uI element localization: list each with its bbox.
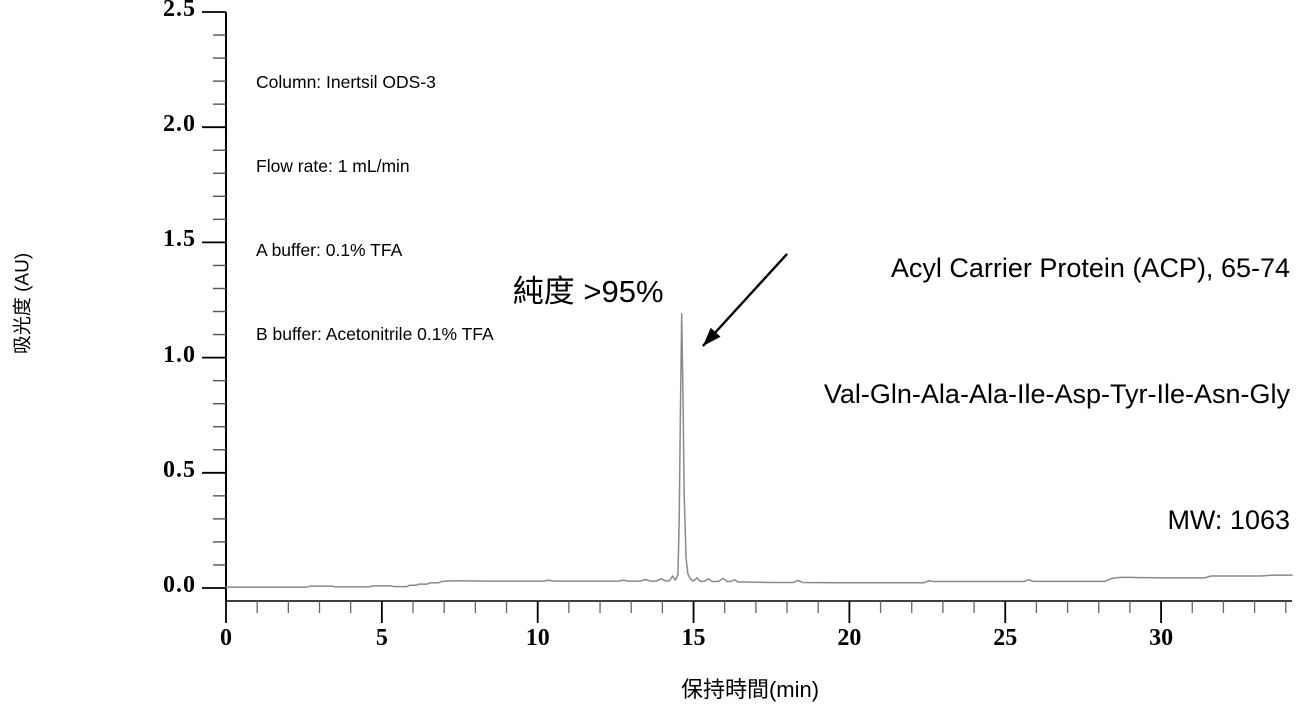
x-tick-label: 10 [508,625,568,652]
x-tick-label: 25 [975,625,1035,652]
method-line-flowrate: Flow rate: 1 mL/min [256,152,494,180]
method-line-abuffer: A buffer: 0.1% TFA [256,236,494,264]
sample-annotation: Acyl Carrier Protein (ACP), 65-74 Val-Gl… [824,163,1290,625]
y-tick-label: 1.0 [126,342,196,369]
y-tick-label: 2.5 [126,0,196,23]
method-conditions: Column: Inertsil ODS-3 Flow rate: 1 mL/m… [256,12,494,404]
x-axis-title: 保持時間(min) [610,672,890,704]
y-tick-label: 1.5 [126,226,196,253]
y-tick-label: 0.5 [126,457,196,484]
sample-mw: MW: 1063 [824,499,1290,541]
y-tick-label: 2.0 [126,111,196,138]
y-tick-label: 0.0 [126,572,196,599]
sample-name: Acyl Carrier Protein (ACP), 65-74 [824,247,1290,289]
sample-sequence: Val-Gln-Ala-Ala-Ile-Asp-Tyr-Ile-Asn-Gly [824,373,1290,415]
y-axis-title: 吸光度 (AU) [8,239,35,369]
method-line-column: Column: Inertsil ODS-3 [256,68,494,96]
peak-arrow [703,254,787,346]
method-line-bbuffer: B buffer: Acetonitrile 0.1% TFA [256,320,494,348]
x-tick-label: 20 [819,625,879,652]
purity-label: 純度 >95% [513,266,664,311]
chromatogram-figure: Column: Inertsil ODS-3 Flow rate: 1 mL/m… [0,0,1299,714]
x-tick-label: 5 [352,625,412,652]
x-tick-label: 0 [196,625,256,652]
x-tick-label: 30 [1131,625,1191,652]
x-tick-label: 15 [664,625,724,652]
